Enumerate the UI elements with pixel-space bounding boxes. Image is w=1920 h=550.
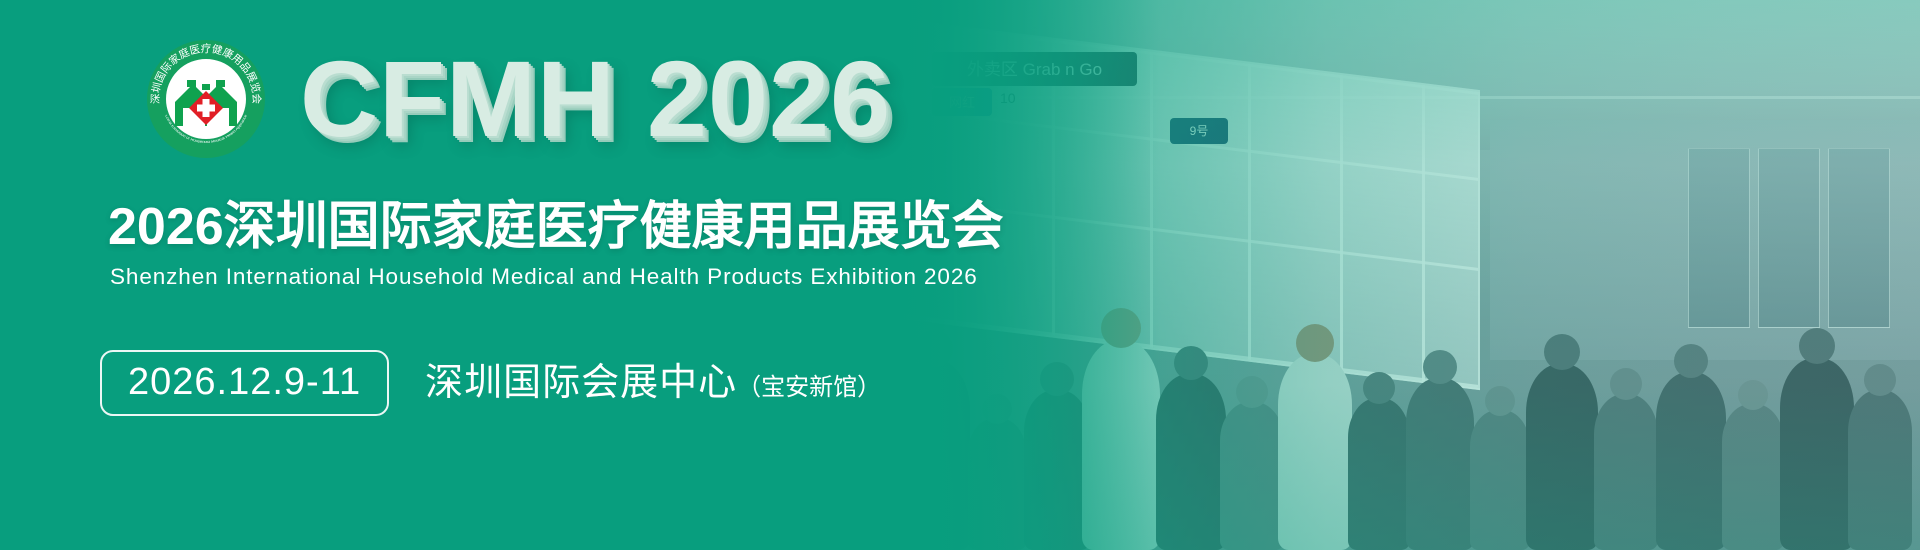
- cfmh-logo: 深圳国际家庭医疗健康用品展览会 China Exhibition of Hous…: [147, 40, 265, 158]
- banner-content: 深圳国际家庭医疗健康用品展览会 China Exhibition of Hous…: [0, 0, 1010, 550]
- event-date-badge: 2026.12.9-11: [100, 350, 389, 416]
- event-details-row: 2026.12.9-11 深圳国际会展中心 （宝安新馆）: [100, 350, 881, 416]
- brand-title: CFMH 2026: [300, 44, 891, 154]
- exhibition-banner: 外卖区 Grab n Go 网红 10 9号: [0, 0, 1920, 550]
- event-venue: 深圳国际会展中心 （宝安新馆）: [425, 362, 881, 404]
- venue-hall: （宝安新馆）: [737, 373, 881, 403]
- english-subtitle: Shenzhen International Household Medical…: [110, 263, 978, 291]
- logo-house-cross-emblem: [147, 40, 265, 158]
- venue-name: 深圳国际会展中心: [425, 362, 737, 404]
- chinese-title: 2026深圳国际家庭医疗健康用品展览会: [108, 198, 1004, 256]
